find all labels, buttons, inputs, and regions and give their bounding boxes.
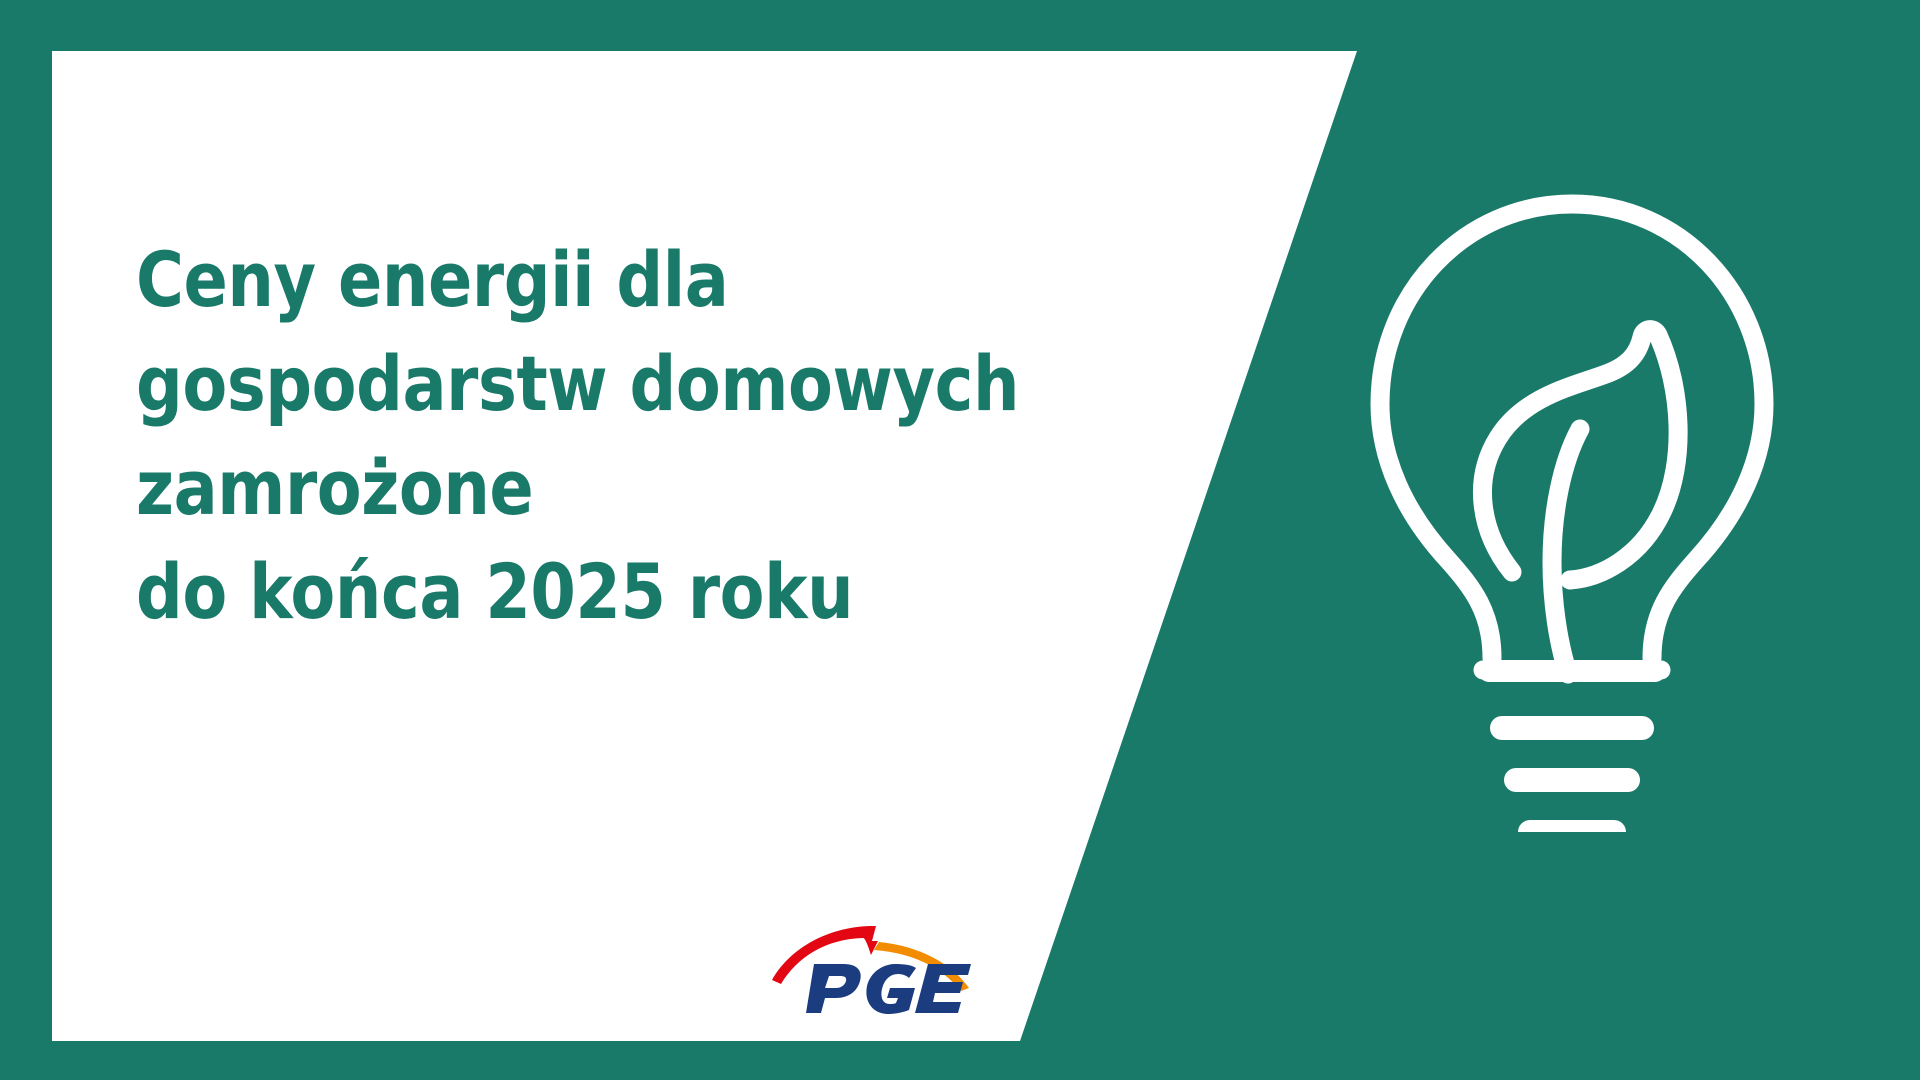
lightbulb-with-leaf-icon bbox=[1352, 182, 1792, 832]
pge-logo-graphic bbox=[768, 918, 978, 1018]
bulb-base-bar-1 bbox=[1478, 660, 1666, 682]
bulb-base-bar-3 bbox=[1504, 768, 1640, 792]
lightbulb-graphic bbox=[1352, 182, 1792, 832]
leaf-stem-icon bbox=[1552, 429, 1580, 674]
bulb-base-bar-2 bbox=[1490, 716, 1654, 740]
pge-logo bbox=[768, 918, 978, 1018]
page-title: Ceny energii dla gospodarstw domowych za… bbox=[136, 228, 962, 644]
poster-canvas: Ceny energii dla gospodarstw domowych za… bbox=[0, 0, 1920, 1080]
bulb-base-bar-4 bbox=[1518, 820, 1626, 832]
headline-line-2: gospodarstw domowych bbox=[136, 332, 962, 436]
headline-line-1: Ceny energii dla bbox=[136, 228, 962, 332]
leaf-outline-icon bbox=[1482, 330, 1678, 580]
pge-wordmark bbox=[806, 964, 971, 1014]
headline-line-3: zamrożone bbox=[136, 436, 962, 540]
bulb-base-bars-icon bbox=[1478, 660, 1666, 832]
headline-line-4: do końca 2025 roku bbox=[136, 540, 962, 644]
